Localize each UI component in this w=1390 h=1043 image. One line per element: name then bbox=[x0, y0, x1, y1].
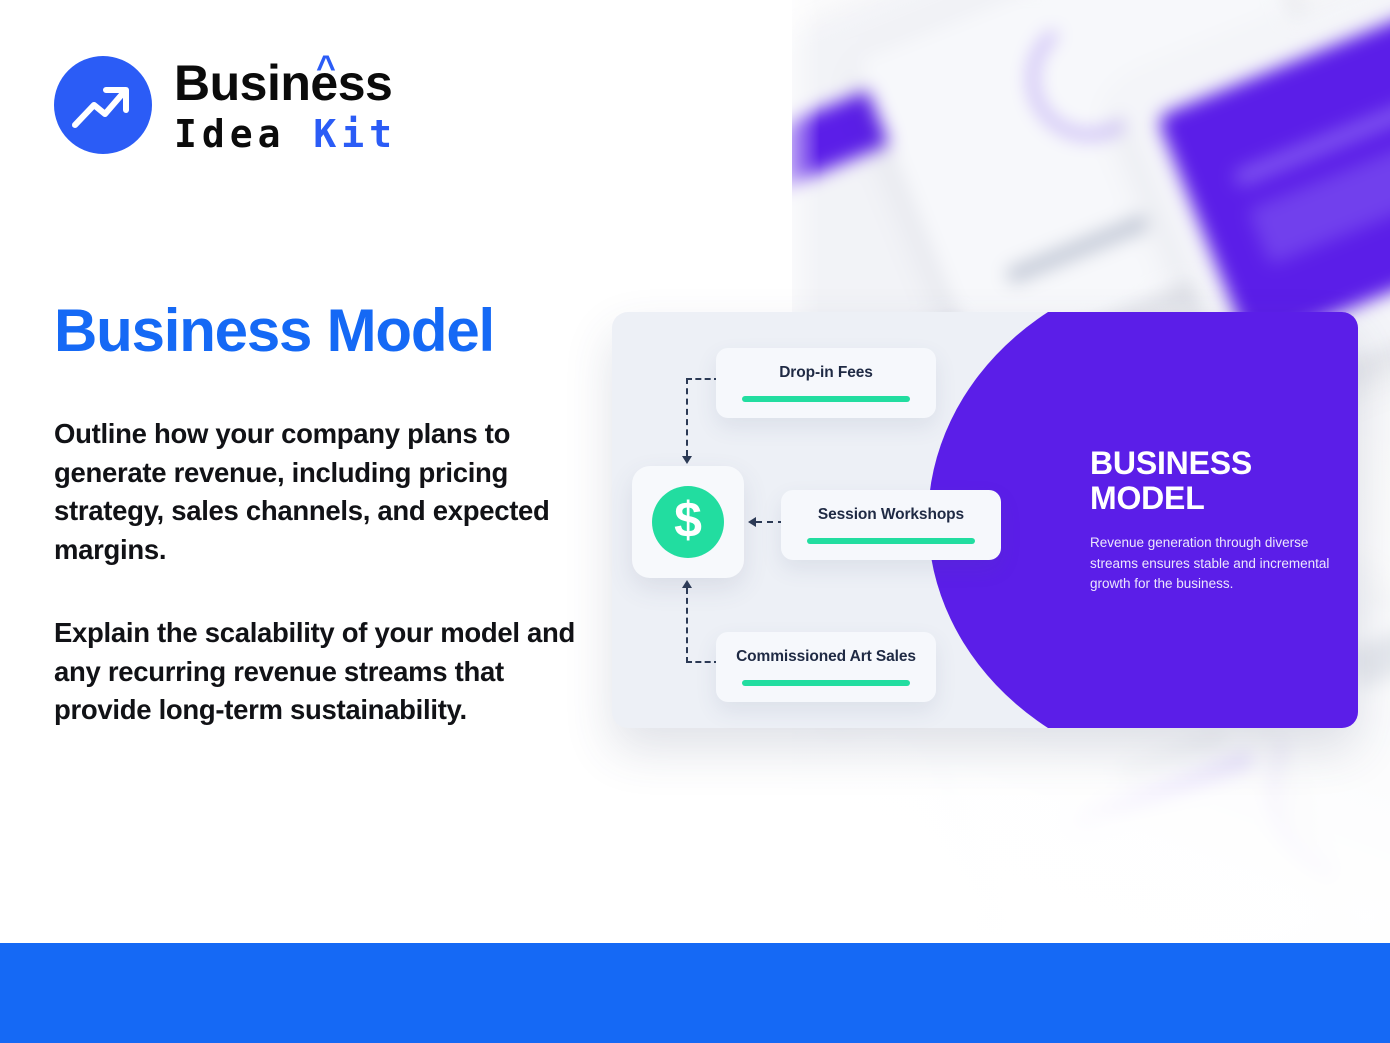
node-label: Drop-in Fees bbox=[779, 364, 873, 382]
node-progress-bar bbox=[742, 680, 910, 686]
revenue-stream-node: Drop-in Fees bbox=[716, 348, 936, 418]
purple-panel-content: BUSINESS MODEL Revenue generation throug… bbox=[1090, 446, 1350, 595]
purple-panel-title-line2: MODEL bbox=[1090, 481, 1350, 516]
node-label: Session Workshops bbox=[818, 506, 964, 524]
connector-middle-arrow-icon bbox=[748, 517, 756, 527]
paragraph-2: Explain the scalability of your model an… bbox=[54, 614, 594, 730]
purple-panel-title: BUSINESS MODEL bbox=[1090, 446, 1350, 515]
node-label: Commissioned Art Sales bbox=[736, 648, 916, 666]
connector-bottom-vertical bbox=[686, 588, 688, 663]
paragraph-1: Outline how your company plans to genera… bbox=[54, 415, 594, 569]
revenue-stream-node: Commissioned Art Sales bbox=[716, 632, 936, 702]
connector-middle-horizontal bbox=[756, 521, 784, 523]
page-title: Business Model bbox=[54, 296, 494, 365]
connector-top-arrow-icon bbox=[682, 456, 692, 464]
dollar-sign-icon: $ bbox=[652, 486, 724, 558]
connector-top-horizontal bbox=[686, 378, 720, 380]
brand-name-primary: Business ^ bbox=[174, 58, 397, 108]
brand-name-text: Business bbox=[174, 55, 392, 111]
brand-idea-text: Idea bbox=[174, 112, 286, 156]
slide-page: Business ^ Idea Kit Business Model Outli… bbox=[0, 0, 1390, 1043]
purple-panel-description: Revenue generation through diverse strea… bbox=[1090, 533, 1350, 595]
revenue-center-node: $ bbox=[632, 466, 744, 578]
purple-panel-title-line1: BUSINESS bbox=[1090, 446, 1350, 481]
brand-kit-text: Kit bbox=[313, 112, 397, 156]
footer-band bbox=[0, 943, 1390, 1043]
body-copy: Outline how your company plans to genera… bbox=[54, 415, 594, 730]
node-progress-bar bbox=[807, 538, 975, 544]
brand-logo: Business ^ Idea Kit bbox=[54, 56, 397, 154]
connector-bottom-arrow-icon bbox=[682, 580, 692, 588]
revenue-stream-node: Session Workshops bbox=[781, 490, 1001, 560]
connector-top-vertical bbox=[686, 378, 688, 456]
connector-bottom-horizontal bbox=[686, 661, 720, 663]
trend-arrow-up-icon bbox=[54, 56, 152, 154]
node-progress-bar bbox=[742, 396, 910, 402]
brand-circumflex-accent: ^ bbox=[316, 51, 335, 85]
brand-name-secondary: Idea Kit bbox=[174, 115, 397, 153]
